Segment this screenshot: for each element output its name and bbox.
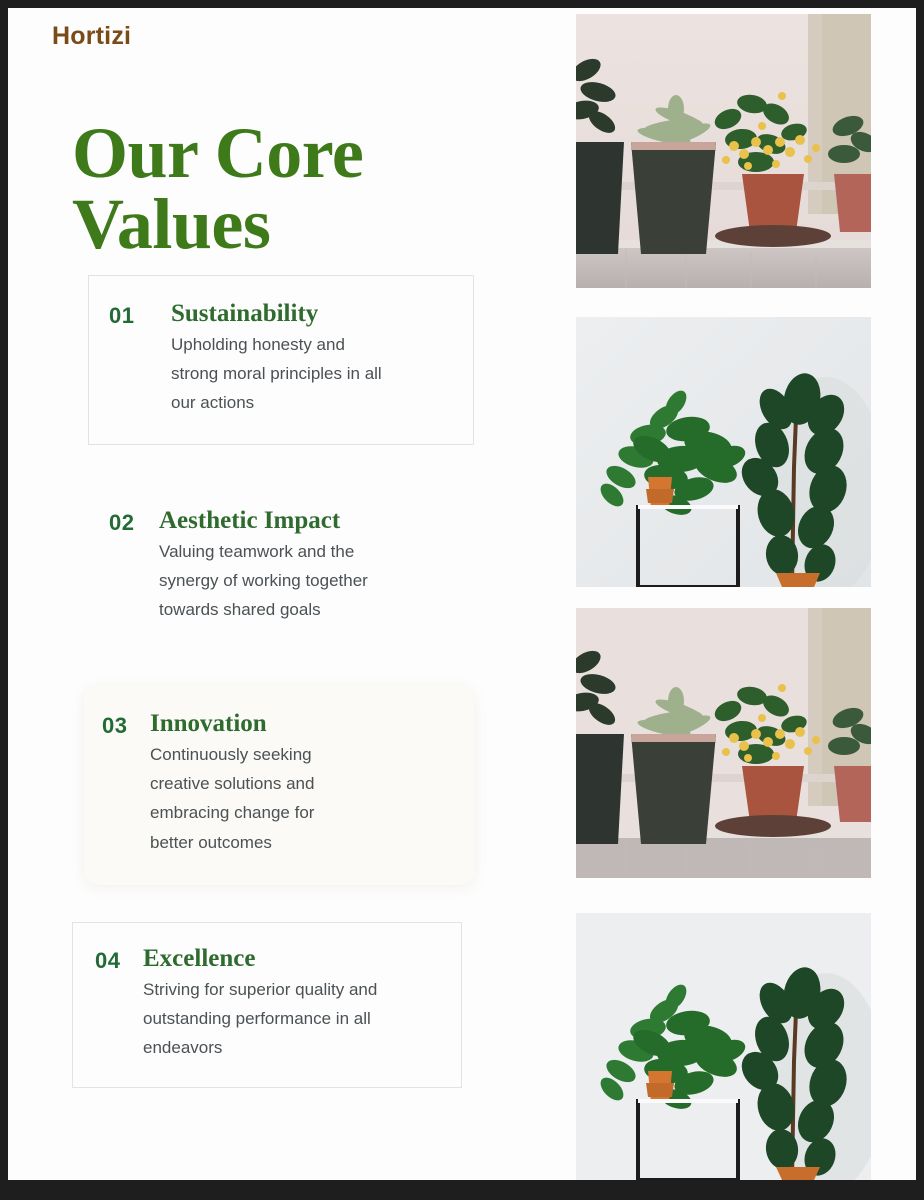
windowsill-illustration [576,608,871,878]
value-card-03[interactable]: 03 Innovation Continuously seeking creat… [84,686,474,885]
content-column: Hortizi Our Core Values 01 Sustainabilit… [8,8,548,1180]
value-text-block: Aesthetic Impact Valuing teamwork and th… [159,507,451,625]
value-description: Upholding honesty and strong moral princ… [171,330,391,418]
photo-windowsill-plants [576,608,871,878]
value-number: 03 [102,710,150,739]
value-card-02[interactable]: 02 Aesthetic Impact Valuing teamwork and… [88,486,474,646]
value-title: Excellence [143,945,439,973]
value-card-row: 02 Aesthetic Impact Valuing teamwork and… [109,507,451,625]
value-number: 01 [109,300,171,329]
value-number: 02 [109,507,159,536]
value-card-04[interactable]: 04 Excellence Striving for superior qual… [72,922,462,1088]
brand-logo-text: Hortizi [52,22,131,51]
value-title: Aesthetic Impact [159,507,451,535]
value-card-row: 01 Sustainability Upholding honesty and … [109,300,451,418]
value-title: Innovation [150,710,452,738]
value-description: Striving for superior quality and outsta… [143,975,391,1063]
windowsill-illustration [576,14,871,288]
wall-plants-illustration [576,913,871,1180]
value-card-row: 03 Innovation Continuously seeking creat… [102,710,452,857]
wall-plants-illustration [576,317,871,587]
value-title: Sustainability [171,300,451,328]
value-card-01[interactable]: 01 Sustainability Upholding honesty and … [88,275,474,445]
value-text-block: Innovation Continuously seeking creative… [150,710,452,857]
photo-windowsill-plants [576,14,871,288]
value-text-block: Excellence Striving for superior quality… [143,945,439,1063]
value-number: 04 [95,945,143,974]
value-description: Continuously seeking creative solutions … [150,740,362,857]
photo-wall-plants [576,913,871,1180]
photo-column [576,8,916,1180]
value-description: Valuing teamwork and the synergy of work… [159,537,399,625]
photo-wall-plants [576,317,871,587]
value-text-block: Sustainability Upholding honesty and str… [171,300,451,418]
page-title: Our Core Values [72,118,532,259]
slide-canvas: Hortizi Our Core Values 01 Sustainabilit… [8,8,916,1180]
value-card-row: 04 Excellence Striving for superior qual… [95,945,439,1063]
